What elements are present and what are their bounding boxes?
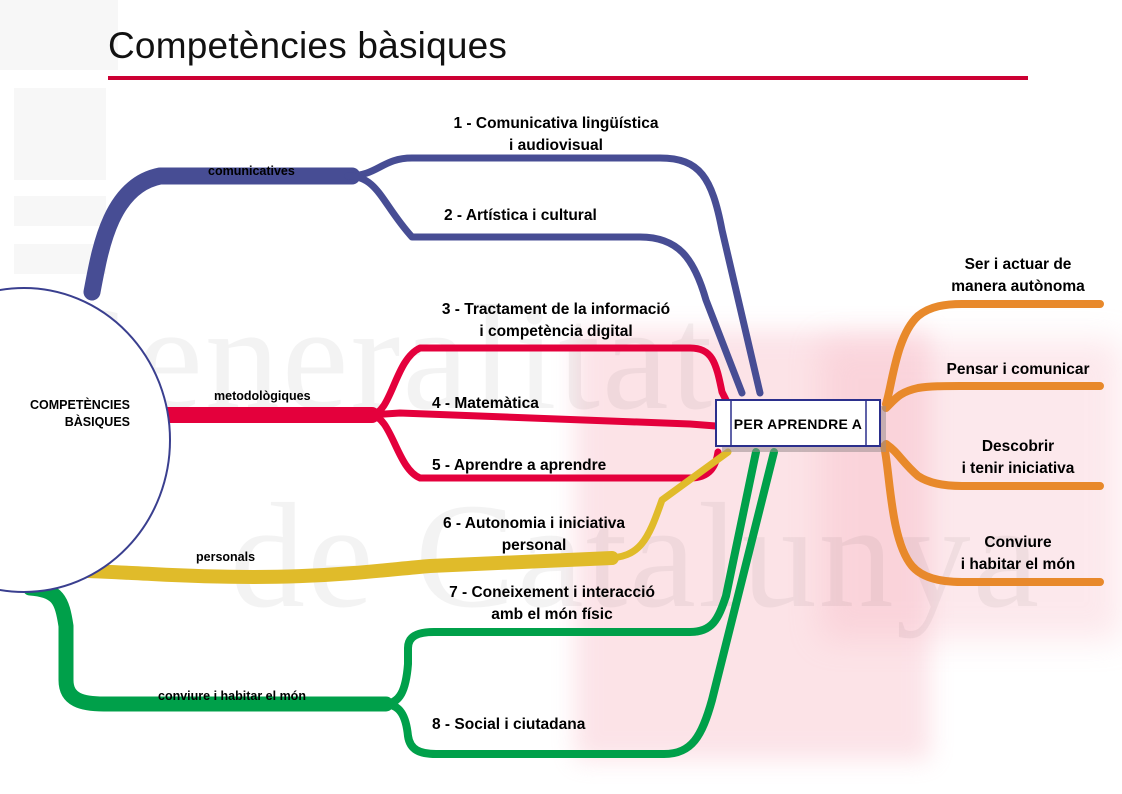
branch-label-personals: personals (196, 550, 255, 564)
mindmap-diagram: comunicatives metodològiques personals c… (0, 0, 1122, 794)
competency-2-line1: 2 - Artística i cultural (444, 207, 597, 224)
outcome-4-line2: i habitar el món (961, 556, 1076, 573)
connector-metodologiques-to-c4 (370, 413, 716, 426)
connector-hub-to-outcome-2 (886, 386, 1100, 408)
outcome-2-line1: Pensar i comunicar (946, 361, 1089, 378)
connector-conviure-to-c7 (384, 452, 756, 704)
competency-6-line2: personal (502, 537, 567, 554)
branch-label-metodologiques: metodològiques (214, 389, 311, 403)
branch-line-personals-trunk (30, 558, 612, 577)
competency-5-line1: 5 - Aprendre a aprendre (432, 457, 607, 474)
hub-node-label: PER APRENDRE A (734, 416, 862, 432)
connector-personals-to-c6 (606, 452, 728, 558)
competency-3-line2: i competència digital (479, 323, 632, 340)
outcome-3-line2: i tenir iniciativa (962, 460, 1075, 477)
competency-6-line1: 6 - Autonomia i iniciativa (443, 515, 625, 532)
hub-node[interactable]: PER APRENDRE A (716, 400, 886, 452)
outcome-1-line1: Ser i actuar de (965, 256, 1072, 273)
outcome-1-line2: manera autònoma (951, 278, 1085, 295)
competency-7-line2: amb el món físic (491, 606, 613, 623)
outcome-4-line1: Conviure (984, 534, 1052, 551)
branch-comunicatives[interactable]: comunicatives (92, 158, 760, 393)
competency-7-line1: 7 - Coneixement i interacció (449, 584, 655, 601)
central-node-label-line2: BÀSIQUES (65, 414, 130, 429)
branch-line-conviure-trunk (30, 588, 386, 704)
connector-metodologiques-to-c3 (370, 348, 726, 415)
competency-3-line1: 3 - Tractament de la informació (442, 301, 670, 318)
competency-4-line1: 4 - Matemàtica (432, 395, 539, 412)
competency-1-line2: i audiovisual (509, 137, 603, 154)
branch-label-conviure: conviure i habitar el món (158, 689, 306, 703)
branch-line-comunicatives-trunk (92, 176, 352, 292)
central-node[interactable]: COMPETÈNCIES BÀSIQUES (0, 288, 170, 592)
connector-conviure-to-c8 (384, 452, 774, 754)
central-node-label-line1: COMPETÈNCIES (30, 397, 130, 412)
outcome-3-line1: Descobrir (982, 438, 1054, 455)
central-node-shape (0, 288, 170, 592)
branch-label-comunicatives: comunicatives (208, 164, 295, 178)
competency-1-line1: 1 - Comunicativa lingüística (454, 115, 659, 132)
competency-8-line1: 8 - Social i ciutadana (432, 716, 586, 733)
slide-canvas: Generalitat de Catalunya Competències bà… (0, 0, 1122, 794)
